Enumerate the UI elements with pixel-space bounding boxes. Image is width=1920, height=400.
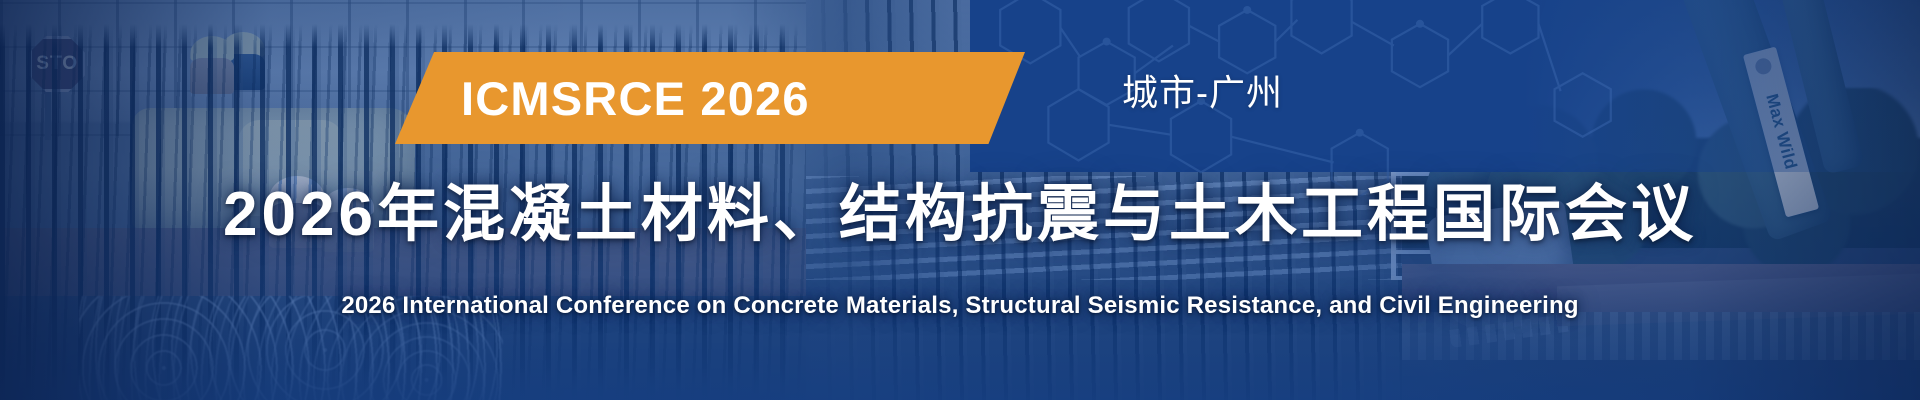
conference-code-banner: ICMSRCE 2026: [395, 52, 1025, 144]
city-label: 城市-广州: [1122, 64, 1283, 116]
conference-banner: STO Max Wild: [0, 0, 1920, 400]
conference-code-label: ICMSRCE 2026: [461, 75, 810, 122]
conference-title-chinese: 2026年混凝土材料、结构抗震与土木工程国际会议: [0, 163, 1920, 253]
conference-title-english: 2026 International Conference on Concret…: [0, 292, 1920, 320]
